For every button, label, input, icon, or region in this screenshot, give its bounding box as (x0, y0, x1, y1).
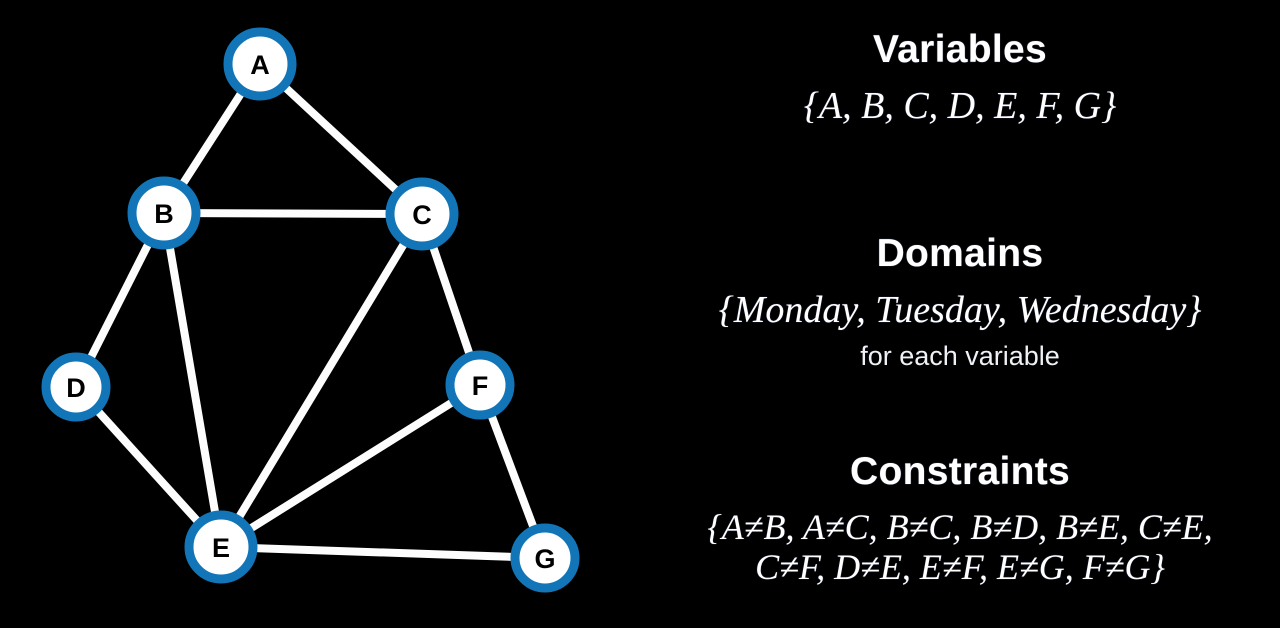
graph-node-e[interactable]: E (189, 515, 253, 579)
domains-block: Domains {Monday, Tuesday, Wednesday} for… (640, 232, 1280, 372)
graph-node-label-f: F (472, 371, 489, 401)
graph-node-d[interactable]: D (46, 357, 106, 417)
variables-heading: Variables (640, 28, 1280, 73)
domains-heading: Domains (640, 232, 1280, 277)
csp-slide: ABCDEFG Variables {A, B, C, D, E, F, G} … (0, 0, 1280, 628)
constraints-set-line-2: C≠F, D≠E, E≠F, E≠G, F≠G} (640, 547, 1280, 587)
graph-edge-e-f (221, 385, 480, 547)
constraints-set: {A≠B, A≠C, B≠C, B≠D, B≠E, C≠E, C≠F, D≠E,… (640, 507, 1280, 588)
definitions-panel: Variables {A, B, C, D, E, F, G} Domains … (640, 0, 1280, 628)
graph-node-label-g: G (534, 544, 555, 574)
constraint-graph-panel: ABCDEFG (0, 0, 640, 628)
graph-node-c[interactable]: C (390, 182, 454, 246)
graph-node-f[interactable]: F (450, 355, 510, 415)
constraints-heading: Constraints (640, 450, 1280, 495)
graph-node-label-b: B (154, 199, 174, 229)
graph-edge-e-g (221, 547, 545, 558)
graph-edge-c-e (221, 214, 422, 547)
graph-node-label-d: D (66, 373, 86, 403)
graph-node-label-a: A (250, 50, 270, 80)
variables-block: Variables {A, B, C, D, E, F, G} (640, 28, 1280, 127)
graph-node-label-e: E (212, 533, 230, 563)
graph-node-b[interactable]: B (132, 181, 196, 245)
graph-node-label-c: C (412, 200, 432, 230)
graph-node-a[interactable]: A (228, 32, 292, 96)
graph-node-g[interactable]: G (515, 528, 575, 588)
domains-note: for each variable (640, 341, 1280, 372)
constraint-graph: ABCDEFG (0, 0, 640, 628)
variables-set: {A, B, C, D, E, F, G} (640, 85, 1280, 128)
graph-edge-layer (76, 64, 545, 558)
domains-set: {Monday, Tuesday, Wednesday} (640, 289, 1280, 332)
graph-edge-b-c (164, 213, 422, 214)
constraints-set-line-1: {A≠B, A≠C, B≠C, B≠D, B≠E, C≠E, (640, 507, 1280, 547)
constraints-block: Constraints {A≠B, A≠C, B≠C, B≠D, B≠E, C≠… (640, 450, 1280, 587)
